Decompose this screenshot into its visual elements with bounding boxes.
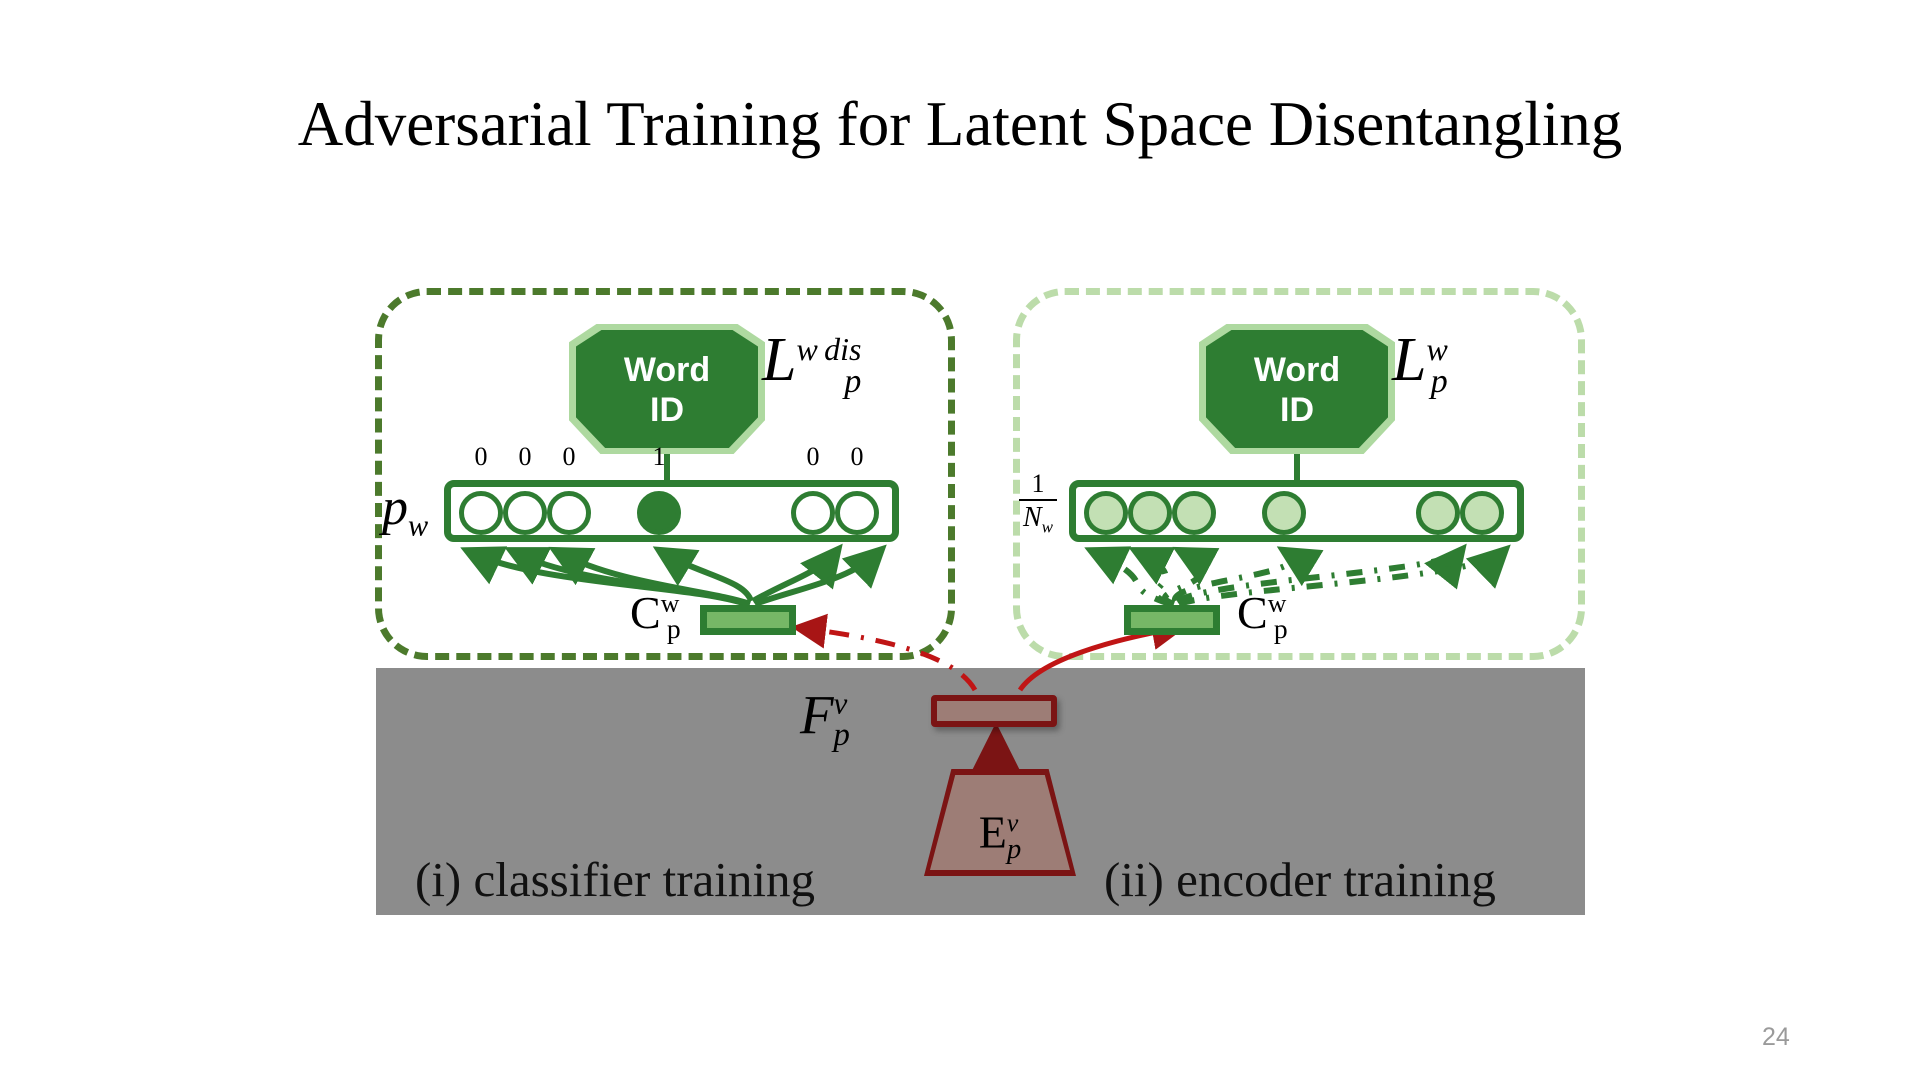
vector-node-value: 0 <box>791 442 835 472</box>
cp-sub: p <box>1274 613 1288 644</box>
connector-overlay <box>0 0 1920 1080</box>
vector-node <box>1172 491 1216 535</box>
word-id-line2: ID <box>650 391 684 429</box>
page-number: 24 <box>1762 1023 1790 1052</box>
vector-node-value: 0 <box>835 442 879 472</box>
vector-node <box>835 491 879 535</box>
loss-subscript: p <box>1431 363 1448 400</box>
classifier-block-left[interactable] <box>700 605 796 635</box>
loss-subscript: p <box>844 363 861 400</box>
feature-vector-label: Fvp <box>800 683 850 754</box>
vector-node-value: 0 <box>547 442 591 472</box>
vector-node <box>459 491 503 535</box>
vector-node <box>1262 491 1306 535</box>
f-sup: v <box>834 687 848 721</box>
pw-base: p <box>382 479 408 536</box>
loss-script-l: L <box>762 326 796 394</box>
word-id-line1: Word <box>1254 351 1340 389</box>
caption-encoder-training: (ii) encoder training <box>1104 851 1496 908</box>
word-id-badge-classifier[interactable]: Word ID <box>576 330 758 448</box>
classifier-label-right: Cwp <box>1237 586 1288 645</box>
classifier-label-left: Cwp <box>630 586 681 645</box>
fraction-denominator-sub: w <box>1042 518 1053 537</box>
page-title: Adversarial Training for Latent Space Di… <box>0 88 1920 161</box>
f-sub: p <box>833 717 850 753</box>
vector-node-value: 1 <box>637 442 681 472</box>
cp-base: C <box>630 587 661 638</box>
cp-sub: p <box>667 613 681 644</box>
vector-node <box>1084 491 1128 535</box>
word-id-line1: Word <box>624 351 710 389</box>
vector-node <box>791 491 835 535</box>
vector-node <box>1416 491 1460 535</box>
f-base: F <box>800 684 834 745</box>
encoder-block-label: Evp <box>930 775 1070 870</box>
e-sup: v <box>1007 808 1018 837</box>
fraction-denominator: Nw <box>1012 503 1064 536</box>
classifier-block-right[interactable] <box>1124 605 1220 635</box>
probability-vector-label: pw <box>382 478 428 543</box>
node-bar-classifier <box>444 480 899 542</box>
vector-node <box>1128 491 1172 535</box>
uniform-target-label: 1 Nw <box>1012 470 1064 537</box>
node-bar-encoder <box>1069 480 1524 542</box>
vector-node <box>1460 491 1504 535</box>
word-id-line2: ID <box>1280 391 1314 429</box>
fraction-denominator-base: N <box>1023 502 1042 533</box>
pw-sub: w <box>408 508 428 542</box>
vector-node <box>503 491 547 535</box>
vector-node-value: 0 <box>503 442 547 472</box>
e-sub: p <box>1007 834 1021 865</box>
fraction-numerator: 1 <box>1012 470 1064 497</box>
fraction-bar <box>1019 499 1057 501</box>
caption-classifier-training: (i) classifier training <box>415 851 815 908</box>
loss-superscript: w dis <box>796 332 861 367</box>
vector-node-value: 0 <box>459 442 503 472</box>
loss-symbol-classifier: Lw disp <box>762 325 861 401</box>
e-base: E <box>979 806 1007 857</box>
vector-node <box>637 491 681 535</box>
loss-symbol-encoder: Lwp <box>1392 325 1448 401</box>
cp-base: C <box>1237 587 1268 638</box>
loss-superscript: w <box>1426 332 1447 367</box>
word-id-badge-encoder[interactable]: Word ID <box>1206 330 1388 448</box>
loss-script-l: L <box>1392 326 1426 394</box>
vector-node <box>547 491 591 535</box>
feature-vector-block[interactable] <box>931 695 1057 727</box>
